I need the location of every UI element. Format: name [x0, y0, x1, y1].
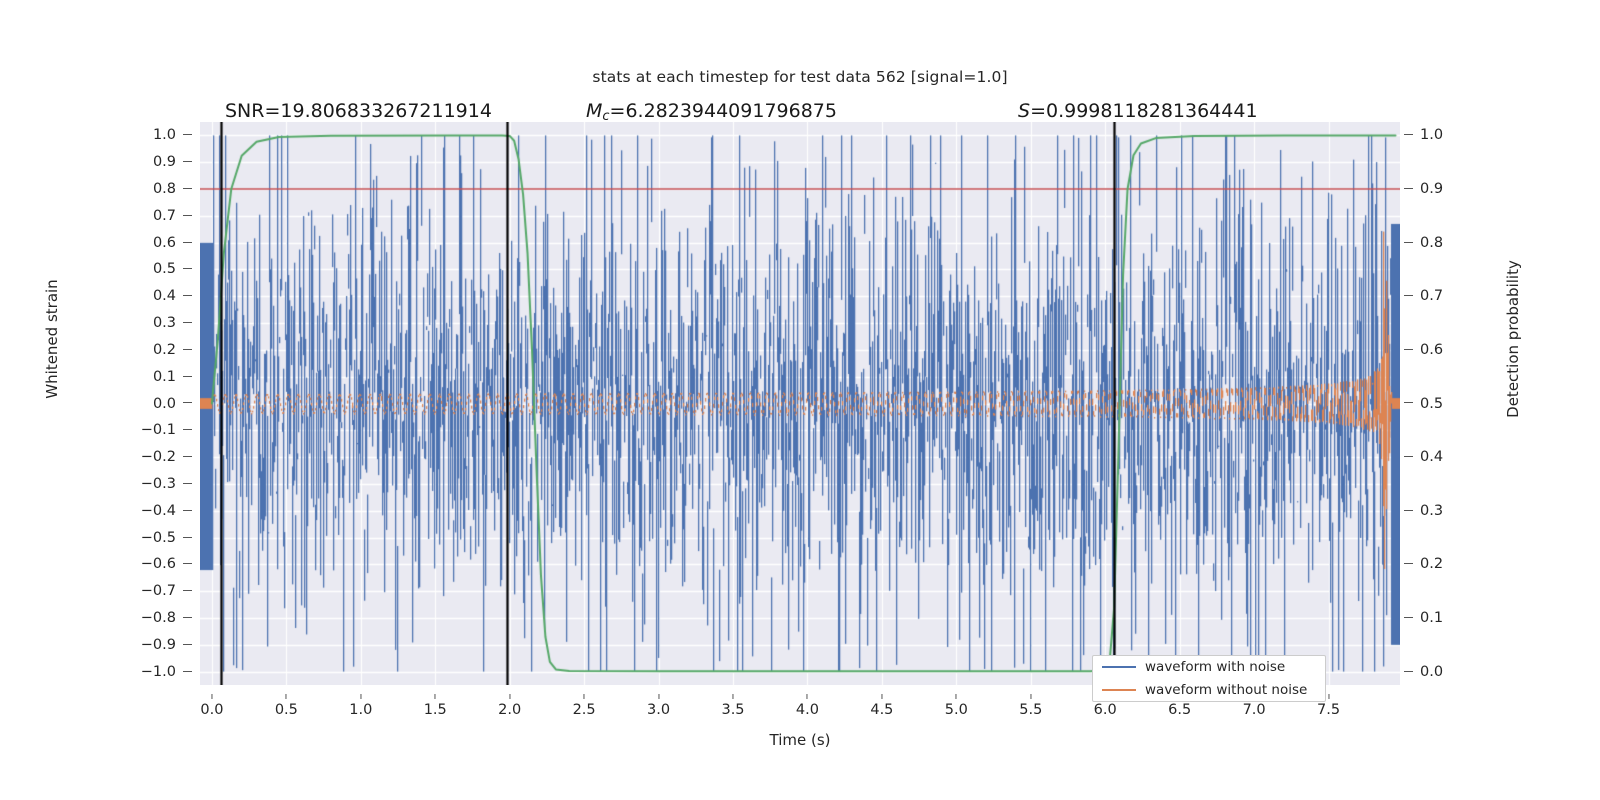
tick-mark-icon: [183, 268, 192, 269]
y-tick-right-label: 0.0: [1420, 664, 1443, 680]
tick-mark-icon: [183, 349, 192, 350]
tick-mark-icon: [1404, 295, 1413, 296]
x-tick: 3.0: [647, 694, 670, 718]
annotation-s-value: 0.9998118281364441: [1046, 100, 1258, 122]
x-tick-label: 1.5: [424, 702, 447, 718]
x-tick: 1.5: [424, 694, 447, 718]
y-tick-left: −0.6: [141, 556, 192, 572]
y-tick-left-label: 1.0: [153, 127, 176, 143]
figure-root: stats at each timestep for test data 562…: [0, 0, 1600, 800]
y-tick-left: 0.9: [153, 154, 192, 170]
annotation-significance: S=0.9998118281364441: [1018, 100, 1258, 122]
y-tick-right-label: 0.4: [1420, 449, 1443, 465]
y-tick-right: 0.7: [1404, 288, 1443, 304]
annotation-mc-equals: =: [610, 100, 626, 122]
tick-mark-icon: [956, 694, 957, 699]
y-tick-left: −0.1: [141, 422, 192, 438]
y-tick-right-label: 0.1: [1420, 610, 1443, 626]
tick-mark-icon: [183, 644, 192, 645]
tick-mark-icon: [183, 402, 192, 403]
y-tick-left-label: −0.5: [141, 530, 176, 546]
tick-mark-icon: [435, 694, 436, 699]
annotation-snr: SNR=19.806833267211914: [225, 100, 492, 122]
x-tick: 4.0: [796, 694, 819, 718]
tick-mark-icon: [584, 694, 585, 699]
tick-mark-icon: [183, 456, 192, 457]
annotation-snr-value: 19.806833267211914: [280, 100, 492, 122]
tick-mark-icon: [183, 215, 192, 216]
tick-mark-icon: [1404, 242, 1413, 243]
y-tick-right-label: 0.6: [1420, 342, 1443, 358]
x-tick-label: 0.5: [275, 702, 298, 718]
x-tick: 5.5: [1019, 694, 1042, 718]
y-tick-right: 0.0: [1404, 664, 1443, 680]
y-tick-left: 0.2: [153, 342, 192, 358]
tick-mark-icon: [183, 188, 192, 189]
y-tick-right-label: 1.0: [1420, 127, 1443, 143]
tick-mark-icon: [1404, 456, 1413, 457]
x-tick: 0.0: [200, 694, 223, 718]
y-tick-right-label: 0.9: [1420, 181, 1443, 197]
y-tick-right-label: 0.7: [1420, 288, 1443, 304]
legend-item-waveform-with-noise: waveform with noise: [1093, 656, 1325, 679]
y-tick-left: 0.1: [153, 369, 192, 385]
tick-mark-icon: [183, 295, 192, 296]
x-tick-label: 0.0: [200, 702, 223, 718]
page-title: stats at each timestep for test data 562…: [0, 68, 1600, 86]
y-tick-left-label: −0.1: [141, 422, 176, 438]
legend-swatch-orange-icon: [1102, 689, 1136, 691]
tick-mark-icon: [183, 510, 192, 511]
tick-mark-icon: [183, 322, 192, 323]
annotation-chirp-mass: Mc=6.2823944091796875: [586, 100, 837, 124]
y-tick-right: 0.8: [1404, 235, 1443, 251]
y-tick-left-label: −0.8: [141, 610, 176, 626]
tick-mark-icon: [183, 242, 192, 243]
tick-mark-icon: [1404, 617, 1413, 618]
y-tick-right-label: 0.3: [1420, 503, 1443, 519]
y-tick-right: 0.4: [1404, 449, 1443, 465]
tick-mark-icon: [183, 483, 192, 484]
annotation-s-symbol: S: [1018, 100, 1030, 122]
y-tick-left: 0.6: [153, 235, 192, 251]
y-tick-right: 0.1: [1404, 610, 1443, 626]
y-tick-left: 0.5: [153, 261, 192, 277]
tick-mark-icon: [183, 617, 192, 618]
tick-mark-icon: [183, 537, 192, 538]
tick-mark-icon: [1404, 563, 1413, 564]
y-tick-left-label: −0.4: [141, 503, 176, 519]
tick-mark-icon: [733, 694, 734, 699]
x-tick: 1.0: [349, 694, 372, 718]
y-tick-left-label: 0.5: [153, 261, 176, 277]
tick-mark-icon: [211, 694, 212, 699]
tick-mark-icon: [509, 694, 510, 699]
legend-item-waveform-without-noise: waveform without noise: [1093, 679, 1325, 702]
tick-mark-icon: [1404, 188, 1413, 189]
tick-mark-icon: [1328, 694, 1329, 699]
y-tick-left-label: −0.9: [141, 637, 176, 653]
x-tick: 4.5: [870, 694, 893, 718]
y-tick-right-label: 0.2: [1420, 556, 1443, 572]
y-tick-left-label: −1.0: [141, 664, 176, 680]
x-tick: 5.0: [945, 694, 968, 718]
y-tick-left-label: 0.1: [153, 369, 176, 385]
y-tick-left: −0.7: [141, 583, 192, 599]
x-tick-label: 3.0: [647, 702, 670, 718]
tick-mark-icon: [183, 429, 192, 430]
annotation-mc-symbol: M: [586, 100, 602, 122]
y-axis-label-right: Detection probability: [1504, 224, 1522, 454]
tick-mark-icon: [286, 694, 287, 699]
y-tick-right: 0.2: [1404, 556, 1443, 572]
y-tick-right: 1.0: [1404, 127, 1443, 143]
y-tick-right: 0.3: [1404, 503, 1443, 519]
y-tick-left-label: −0.6: [141, 556, 176, 572]
plot-area: [200, 122, 1400, 685]
x-tick-label: 5.5: [1019, 702, 1042, 718]
x-axis-label: Time (s): [0, 731, 1600, 749]
x-tick-label: 7.5: [1317, 702, 1340, 718]
y-tick-left: 1.0: [153, 127, 192, 143]
y-tick-left-label: 0.3: [153, 315, 176, 331]
y-tick-left-label: 0.8: [153, 181, 176, 197]
y-tick-left: 0.0: [153, 396, 192, 412]
x-tick-label: 7.0: [1243, 702, 1266, 718]
tick-mark-icon: [658, 694, 659, 699]
y-tick-left: 0.8: [153, 181, 192, 197]
tick-mark-icon: [183, 161, 192, 162]
x-tick-label: 3.5: [721, 702, 744, 718]
tick-mark-icon: [183, 671, 192, 672]
annotation-mc-value: 6.2823944091796875: [625, 100, 837, 122]
y-tick-left-label: −0.2: [141, 449, 176, 465]
x-tick-label: 1.0: [349, 702, 372, 718]
legend-label-waveform-with-noise: waveform with noise: [1145, 659, 1285, 675]
y-tick-left: −0.8: [141, 610, 192, 626]
y-tick-left-label: 0.4: [153, 288, 176, 304]
y-tick-left: 0.4: [153, 288, 192, 304]
y-tick-left-label: 0.0: [153, 396, 176, 412]
y-axis-label-left: Whitened strain: [43, 239, 61, 439]
y-tick-left: −0.5: [141, 530, 192, 546]
y-tick-left-label: 0.7: [153, 208, 176, 224]
y-tick-right: 0.9: [1404, 181, 1443, 197]
tick-mark-icon: [807, 694, 808, 699]
y-tick-left-label: 0.2: [153, 342, 176, 358]
x-tick: 0.5: [275, 694, 298, 718]
x-tick-label: 4.5: [870, 702, 893, 718]
x-tick-label: 6.0: [1094, 702, 1117, 718]
tick-mark-icon: [1030, 694, 1031, 699]
y-tick-left: −0.3: [141, 476, 192, 492]
tick-mark-icon: [183, 563, 192, 564]
y-tick-right-label: 0.5: [1420, 396, 1443, 412]
tick-mark-icon: [1404, 134, 1413, 135]
legend: waveform with noise waveform without noi…: [1092, 655, 1326, 702]
tick-mark-icon: [1404, 349, 1413, 350]
tick-mark-icon: [1404, 402, 1413, 403]
y-tick-left: −0.4: [141, 503, 192, 519]
y-tick-left: −0.2: [141, 449, 192, 465]
y-tick-left-label: 0.9: [153, 154, 176, 170]
y-tick-left-label: −0.3: [141, 476, 176, 492]
y-tick-left-label: 0.6: [153, 235, 176, 251]
y-tick-right-label: 0.8: [1420, 235, 1443, 251]
tick-mark-icon: [183, 590, 192, 591]
x-tick-label: 5.0: [945, 702, 968, 718]
y-tick-left: 0.7: [153, 208, 192, 224]
x-tick: 2.0: [498, 694, 521, 718]
annotation-snr-label: SNR=: [225, 100, 280, 122]
x-tick-label: 6.5: [1168, 702, 1191, 718]
y-tick-left: 0.3: [153, 315, 192, 331]
x-tick-label: 2.5: [573, 702, 596, 718]
y-tick-right: 0.5: [1404, 396, 1443, 412]
y-tick-left: −1.0: [141, 664, 192, 680]
tick-mark-icon: [1404, 510, 1413, 511]
y-tick-left: −0.9: [141, 637, 192, 653]
legend-label-waveform-without-noise: waveform without noise: [1145, 682, 1307, 698]
x-tick-label: 2.0: [498, 702, 521, 718]
tick-mark-icon: [881, 694, 882, 699]
x-tick: 3.5: [721, 694, 744, 718]
tick-mark-icon: [360, 694, 361, 699]
tick-mark-icon: [1404, 671, 1413, 672]
legend-swatch-blue-icon: [1102, 666, 1136, 668]
plot-canvas: [200, 122, 1400, 685]
y-tick-left-label: −0.7: [141, 583, 176, 599]
tick-mark-icon: [183, 134, 192, 135]
annotation-s-equals: =: [1030, 100, 1046, 122]
x-tick: 2.5: [573, 694, 596, 718]
x-tick-label: 4.0: [796, 702, 819, 718]
y-tick-right: 0.6: [1404, 342, 1443, 358]
tick-mark-icon: [183, 376, 192, 377]
